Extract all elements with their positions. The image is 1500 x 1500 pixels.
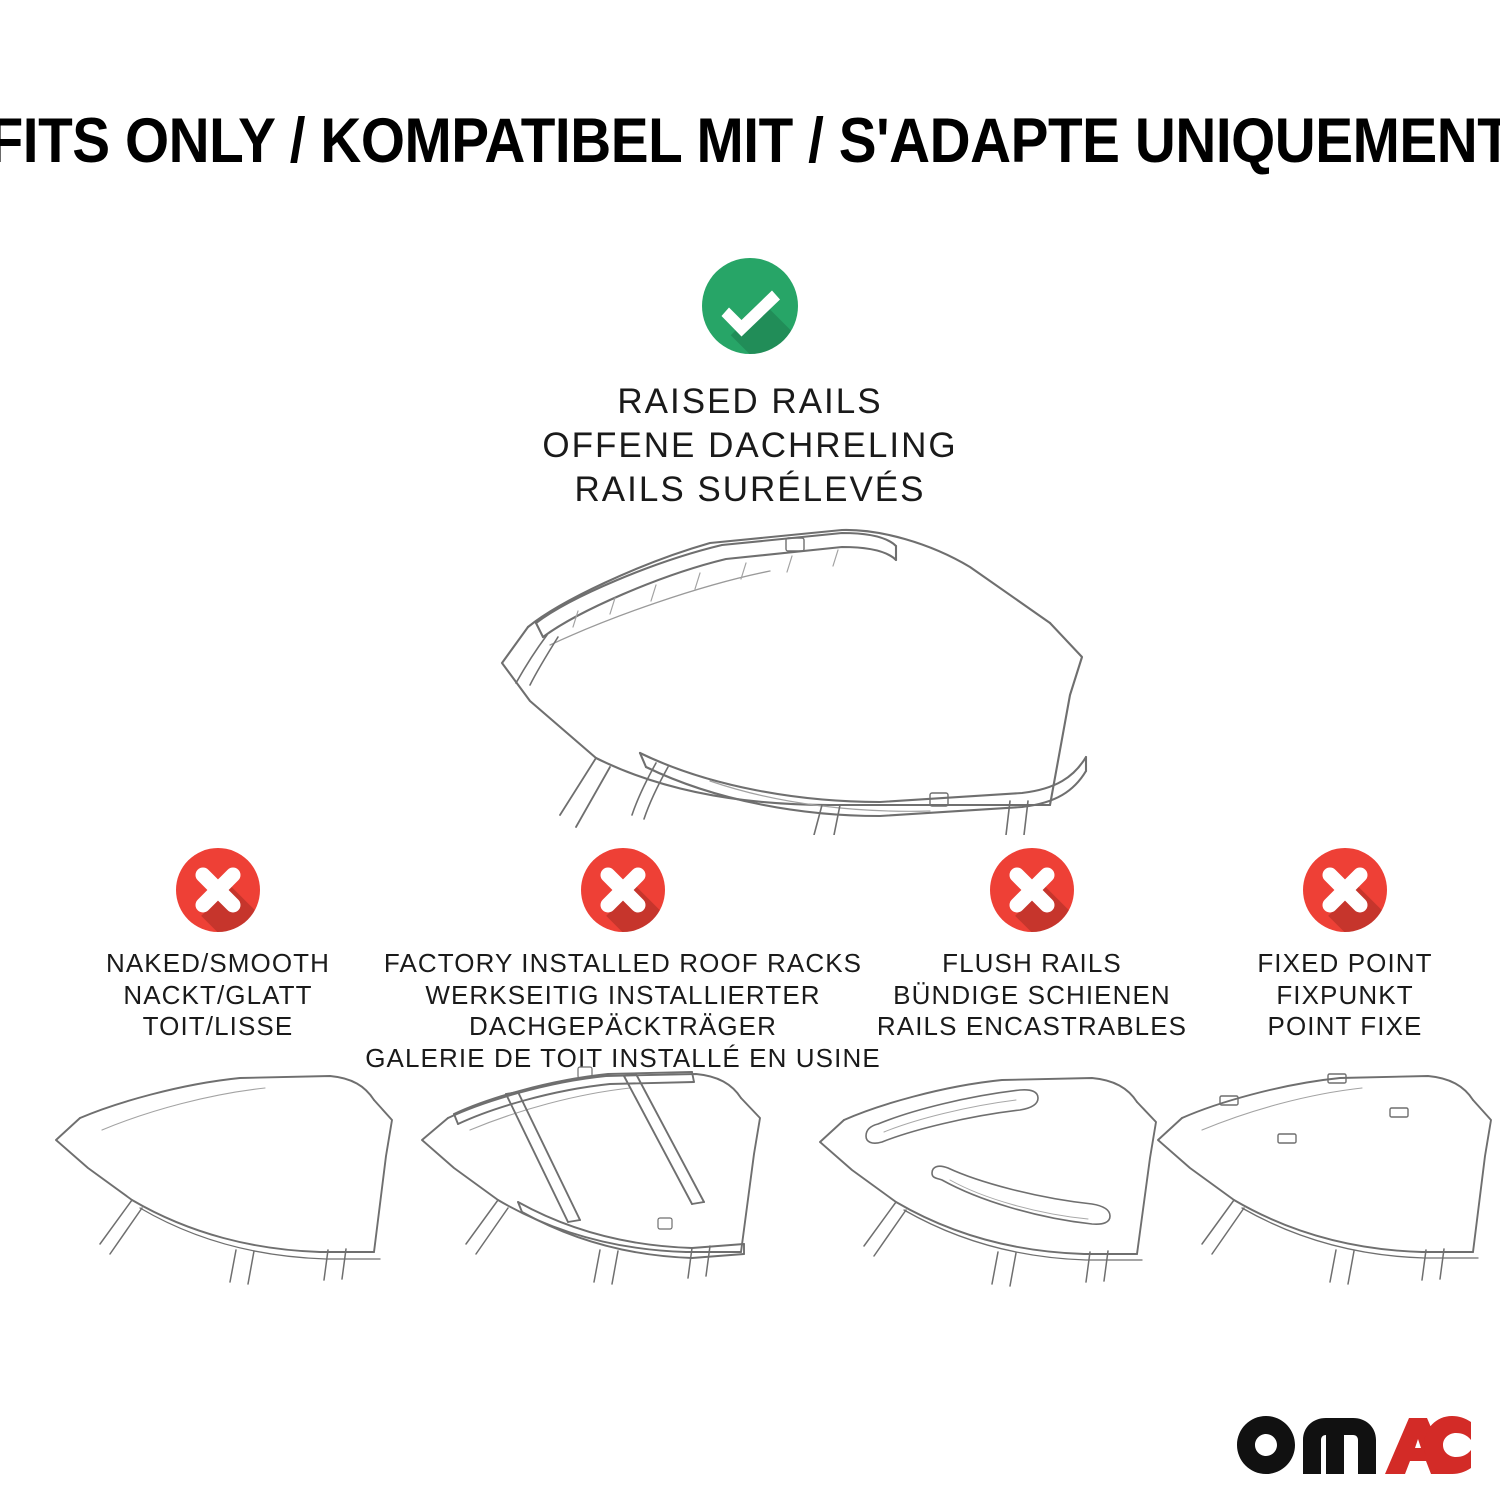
label-line: FLUSH RAILS — [877, 948, 1187, 980]
cross-mark-glyph — [581, 848, 665, 932]
incompatible-section: NAKED/SMOOTH NACKT/GLATT TOIT/LISSE FACT… — [0, 848, 1500, 1068]
omac-logo: OMAC — [1233, 1412, 1473, 1478]
logo-letter-o — [1237, 1416, 1295, 1474]
cross-circle-icon — [176, 848, 260, 932]
label-line: BÜNDIGE SCHIENEN — [877, 980, 1187, 1012]
page-title: FITS ONLY / KOMPATIBEL MIT / S'ADAPTE UN… — [0, 105, 1500, 177]
incompatible-column-naked-smooth: NAKED/SMOOTH NACKT/GLATT TOIT/LISSE — [18, 848, 418, 1043]
incompatible-labels-flush-rails: FLUSH RAILS BÜNDIGE SCHIENEN RAILS ENCAS… — [877, 948, 1187, 1043]
label-line: NACKT/GLATT — [106, 980, 330, 1012]
car-roof-with-raised-rails-illustration — [410, 505, 1110, 835]
cross-circle-icon — [1303, 848, 1387, 932]
check-circle-icon — [702, 258, 798, 354]
check-mark-glyph — [702, 258, 798, 354]
omac-logo-mark — [1233, 1412, 1473, 1478]
cross-mark-glyph — [1303, 848, 1387, 932]
compatible-label-en: RAISED RAILS — [542, 380, 957, 424]
label-line: FIXED POINT — [1257, 948, 1432, 980]
label-line: DACHGEPÄCKTRÄGER — [365, 1011, 881, 1043]
incompatible-column-fixed-point: FIXED POINT FIXPUNKT POINT FIXE — [1185, 848, 1500, 1043]
car-roof-with-factory-crossbars-illustration — [400, 1052, 790, 1288]
car-roof-with-fixed-points-illustration — [1140, 1058, 1500, 1288]
incompatible-column-factory-roof-racks: FACTORY INSTALLED ROOF RACKS WERKSEITIG … — [383, 848, 863, 1075]
label-line: RAILS ENCASTRABLES — [877, 1011, 1187, 1043]
cross-circle-icon — [990, 848, 1074, 932]
compatible-label-de: OFFENE DACHRELING — [542, 424, 957, 468]
compatible-labels: RAISED RAILS OFFENE DACHRELING RAILS SUR… — [542, 380, 957, 511]
car-roof-with-flush-rails-illustration — [800, 1058, 1180, 1288]
label-line: WERKSEITIG INSTALLIERTER — [365, 980, 881, 1012]
cross-circle-icon — [581, 848, 665, 932]
compatible-section: RAISED RAILS OFFENE DACHRELING RAILS SUR… — [0, 258, 1500, 511]
label-line: FACTORY INSTALLED ROOF RACKS — [365, 948, 881, 980]
label-line: NAKED/SMOOTH — [106, 948, 330, 980]
car-roof-bare-smooth-illustration — [40, 1058, 420, 1288]
logo-letter-m — [1303, 1418, 1376, 1474]
cross-mark-glyph — [176, 848, 260, 932]
label-line: TOIT/LISSE — [106, 1011, 330, 1043]
incompatible-labels-fixed-point: FIXED POINT FIXPUNKT POINT FIXE — [1257, 948, 1432, 1043]
cross-mark-glyph — [990, 848, 1074, 932]
incompatible-column-flush-rails: FLUSH RAILS BÜNDIGE SCHIENEN RAILS ENCAS… — [822, 848, 1242, 1043]
label-line: POINT FIXE — [1257, 1011, 1432, 1043]
incompatible-labels-naked-smooth: NAKED/SMOOTH NACKT/GLATT TOIT/LISSE — [106, 948, 330, 1043]
page-title-bar: FITS ONLY / KOMPATIBEL MIT / S'ADAPTE UN… — [0, 96, 1500, 186]
label-line: FIXPUNKT — [1257, 980, 1432, 1012]
